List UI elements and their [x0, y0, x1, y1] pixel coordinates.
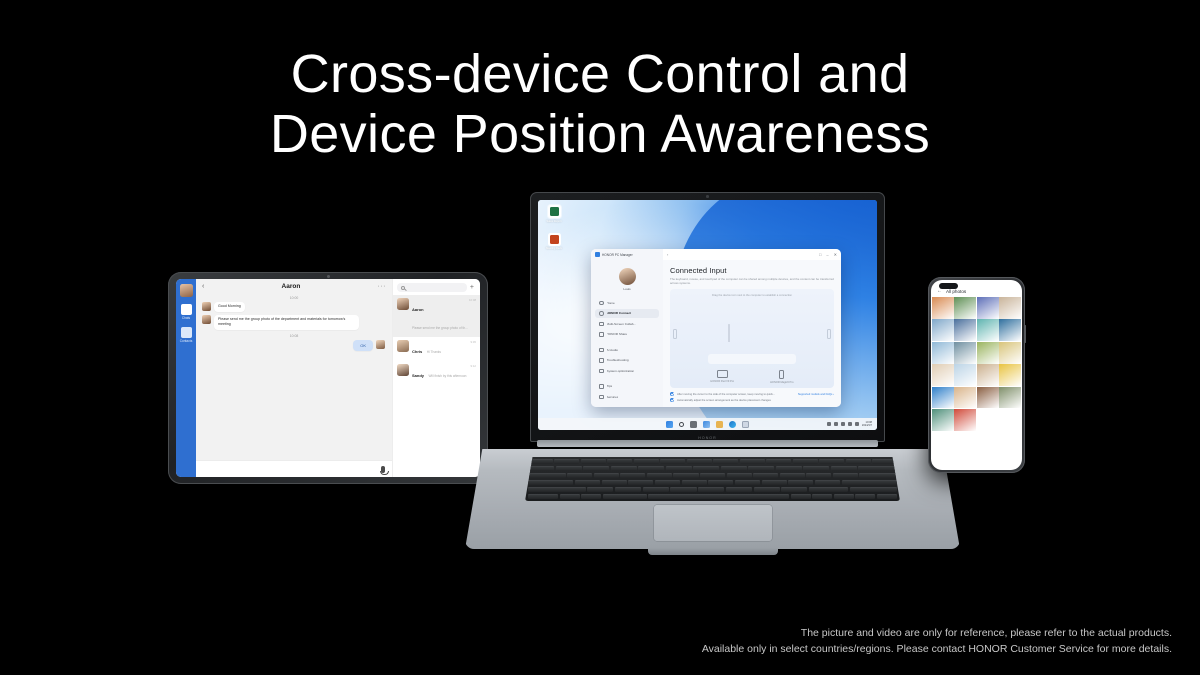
photo-thumbnail[interactable]: [954, 297, 976, 319]
tablet-device: Chats Contacts ‹ Aaron ··· 10:00 Good Mo…: [168, 272, 488, 484]
avatar: [397, 364, 409, 376]
sidebar-item-label: AI Audio: [607, 348, 619, 352]
task-view-icon[interactable]: [690, 421, 697, 428]
multiscreen-icon: [599, 322, 604, 327]
sidebar-item-troubleshooting[interactable]: Troubleshooting: [595, 356, 659, 366]
phone-notch-icon: [939, 283, 958, 289]
laptop-base: [465, 437, 960, 557]
option-label: After moving the cursor to the side of t…: [677, 393, 795, 396]
settings-icon[interactable]: [834, 422, 838, 426]
services-icon: [599, 395, 604, 400]
audio-icon: [599, 348, 604, 353]
system-tray: 10:08 2024/3/7: [827, 421, 872, 427]
photo-grid: [931, 297, 1022, 470]
slide-root: Cross-device Control and Device Position…: [0, 0, 1200, 675]
sidebar-item-label: Troubleshooting: [607, 358, 629, 362]
content-title: Connected Input: [670, 266, 834, 275]
device-chip-phone[interactable]: HONOR Magic6 Pro: [770, 370, 794, 384]
chat-name: Aaron: [412, 307, 424, 312]
laptop-illustration-icon: [728, 325, 776, 343]
phone-icon: [779, 370, 784, 379]
sidebar-item-multi-screen-collab[interactable]: Multi-Screen Collab...: [595, 319, 659, 329]
laptop-lid: Sales Report Meeting Deck HONOR PC Manag…: [530, 192, 885, 442]
desktop-icon-item[interactable]: Meeting Deck: [542, 233, 566, 251]
message-row: Please send me the group photo of the de…: [196, 315, 392, 333]
message-row: OK: [196, 340, 392, 354]
window-title: HONOR PC Manager: [602, 253, 633, 257]
sidebar-item-honor-connect[interactable]: HONOR Connect: [595, 309, 659, 319]
sidebar-item-label: HONOR Connect: [607, 311, 632, 315]
sidebar-item-label: Tips: [607, 384, 613, 388]
back-icon[interactable]: ‹: [667, 252, 668, 257]
sidebar-item-label: Services: [607, 395, 619, 399]
conversation-pane: ‹ Aaron ··· 10:00 Good Morning Please se…: [196, 279, 392, 477]
avatar: [202, 302, 211, 311]
more-options-icon[interactable]: ···: [378, 283, 387, 290]
laptop-trackpad[interactable]: [654, 505, 772, 541]
taskbar-clock[interactable]: 10:08 2024/3/7: [862, 421, 872, 427]
connection-card: Drag the device icon next to the compute…: [670, 289, 834, 388]
windows-taskbar: 10:08 2024/3/7: [538, 418, 877, 430]
search-input[interactable]: [397, 283, 467, 292]
laptop-device: Sales Report Meeting Deck HONOR PC Manag…: [465, 192, 960, 557]
search-icon: [401, 286, 405, 290]
tablet-screen: Chats Contacts ‹ Aaron ··· 10:00 Good Mo…: [176, 279, 480, 477]
tips-icon: [599, 384, 604, 389]
photo-thumbnail[interactable]: [954, 364, 976, 386]
photo-thumbnail[interactable]: [932, 387, 954, 409]
sidebar-item-label: Home: [607, 301, 615, 305]
chat-icon: [181, 304, 192, 315]
share-icon: [599, 332, 604, 337]
message-input-bar[interactable]: [196, 460, 392, 477]
legal-disclaimer: The picture and video are only for refer…: [702, 625, 1172, 657]
chat-preview: Will finish by this afternoon: [428, 374, 466, 378]
chat-preview: Please send me the group photo of th...: [412, 326, 468, 330]
laptop-camera-icon: [706, 195, 709, 198]
avatar: [202, 315, 211, 324]
message-bubble: Please send me the group photo of the de…: [214, 315, 359, 330]
photo-thumbnail[interactable]: [999, 364, 1021, 386]
tablet-camera-icon: [327, 275, 330, 278]
sidebar-item-tips[interactable]: Tips: [595, 382, 659, 392]
file-explorer-icon[interactable]: [716, 421, 723, 428]
photo-thumbnail[interactable]: [954, 342, 976, 364]
pc-manager-content: Connected Input The keyboard, mouse, and…: [663, 260, 841, 407]
back-icon[interactable]: ‹: [202, 283, 204, 290]
disclaimer-line-1: The picture and video are only for refer…: [702, 625, 1172, 641]
laptop-foot: [648, 548, 778, 555]
close-button[interactable]: ✕: [834, 252, 837, 257]
window-titlebar: HONOR PC Manager ‹ □ – ✕: [591, 249, 841, 260]
pc-manager-icon[interactable]: [742, 421, 749, 428]
search-icon[interactable]: [679, 422, 684, 427]
user-name: Louis: [623, 287, 630, 291]
tablet-icon: [717, 370, 728, 378]
content-subtitle: The keyboard, mouse, and touchpad of the…: [670, 277, 834, 285]
message-row: Good Morning: [196, 302, 392, 315]
photo-thumbnail[interactable]: [999, 297, 1021, 319]
contacts-icon: [181, 327, 192, 338]
avatar: [397, 340, 409, 352]
photo-thumbnail[interactable]: [977, 319, 999, 341]
device-chip-tablet[interactable]: HONOR Pad V9 Pro: [710, 370, 734, 384]
sidebar-item-honor-share[interactable]: HONOR Share: [595, 330, 659, 340]
laptop-screen: Sales Report Meeting Deck HONOR PC Manag…: [538, 200, 877, 430]
desktop-icon-label: Meeting Deck: [546, 247, 562, 250]
photo-thumbnail[interactable]: [954, 387, 976, 409]
photo-thumbnail[interactable]: [999, 319, 1021, 341]
desktop-icons: Sales Report Meeting Deck: [542, 205, 566, 251]
sidebar-item-label: Multi-Screen Collab...: [607, 322, 637, 326]
right-device-slot[interactable]: [827, 329, 831, 339]
wifi-icon[interactable]: [841, 422, 845, 426]
sidebar-item-contacts[interactable]: Contacts: [180, 327, 193, 343]
excel-file-icon: [548, 205, 561, 218]
photo-thumbnail[interactable]: [977, 342, 999, 364]
photo-thumbnail[interactable]: [977, 387, 999, 409]
connect-icon: [599, 311, 604, 316]
optimize-icon: [599, 369, 604, 374]
avatar: [376, 340, 385, 349]
edge-icon[interactable]: [729, 421, 736, 428]
photo-thumbnail[interactable]: [999, 342, 1021, 364]
photo-thumbnail[interactable]: [954, 409, 976, 431]
title-line-2: Device Position Awareness: [0, 104, 1200, 164]
message-timestamp: 10:08: [196, 334, 392, 338]
disclaimer-line-2: Available only in select countries/regio…: [702, 641, 1172, 657]
sidebar-item-system-optimization[interactable]: System optimization: [595, 366, 659, 376]
illustration-plate: [708, 354, 796, 364]
minimize-button[interactable]: –: [826, 252, 828, 257]
avatar: [619, 268, 636, 285]
desktop-icon-item[interactable]: Sales Report: [542, 205, 566, 223]
sidebar-item-label: Chats: [182, 316, 190, 320]
desktop-icon-label: Sales Report: [547, 220, 562, 223]
photo-grid-empty-cell: [999, 409, 1021, 431]
pc-manager-window: HONOR PC Manager ‹ □ – ✕: [591, 249, 841, 407]
sidebar-nav: Home HONOR Connect Multi-Screen Collab..…: [595, 298, 659, 402]
page-title: Cross-device Control and Device Position…: [0, 44, 1200, 164]
device-illustration: [670, 297, 834, 370]
sidebar-item-label: HONOR Share: [607, 332, 628, 336]
widgets-icon[interactable]: [703, 421, 710, 428]
phone-screen: ← All photos: [931, 280, 1022, 470]
home-icon: [599, 301, 604, 306]
start-icon[interactable]: [666, 421, 673, 428]
device-name: HONOR Pad V9 Pro: [710, 380, 734, 383]
photo-thumbnail[interactable]: [932, 364, 954, 386]
phone-power-button[interactable]: [1025, 325, 1027, 343]
photo-thumbnail[interactable]: [932, 319, 954, 341]
avatar[interactable]: [180, 284, 193, 297]
photo-thumbnail[interactable]: [932, 342, 954, 364]
chat-name: Sandy: [412, 373, 424, 378]
sidebar-item-label: Contacts: [180, 339, 193, 343]
device-name: HONOR Magic6 Pro: [770, 381, 794, 384]
left-device-slot[interactable]: [673, 329, 677, 339]
volume-icon[interactable]: [848, 422, 852, 426]
laptop-keyboard[interactable]: [525, 457, 900, 501]
photo-thumbnail[interactable]: [999, 387, 1021, 409]
message-bubble: OK: [353, 340, 373, 351]
user-profile[interactable]: Louis: [595, 264, 659, 298]
sidebar-item-home[interactable]: Home: [595, 298, 659, 308]
mic-icon[interactable]: [381, 466, 385, 473]
option-label: Automatically adjust the screen arrangem…: [677, 399, 834, 402]
chat-name: Chris: [412, 349, 422, 354]
troubleshoot-icon: [599, 358, 604, 363]
sidebar-item-chats[interactable]: Chats: [181, 304, 192, 320]
tablet-app-rail: Chats Contacts: [176, 279, 196, 477]
chat-preview: Hi Thanks: [427, 350, 441, 354]
message-bubble: Good Morning: [214, 302, 245, 312]
option-row[interactable]: Automatically adjust the screen arrangem…: [670, 397, 834, 403]
options-list: After moving the cursor to the side of t…: [670, 388, 834, 403]
checkbox-checked-icon[interactable]: [670, 392, 674, 396]
sidebar-item-label: System optimization: [607, 369, 635, 373]
avatar: [397, 298, 409, 310]
battery-icon[interactable]: [855, 422, 859, 426]
app-logo-icon: [595, 252, 600, 257]
checkbox-checked-icon[interactable]: [670, 398, 674, 402]
chevron-up-icon[interactable]: [827, 422, 831, 426]
conversation-spacer: [196, 354, 392, 460]
clock-date: 2024/3/7: [862, 424, 872, 427]
device-chips: HONOR Pad V9 Pro HONOR Magic6 Pro: [710, 370, 793, 388]
photo-thumbnail[interactable]: [932, 297, 954, 319]
photo-thumbnail[interactable]: [977, 297, 999, 319]
message-timestamp: 10:00: [196, 296, 392, 300]
conversation-title: Aaron: [282, 283, 301, 290]
menu-icon[interactable]: □: [819, 252, 821, 257]
conversation-header: ‹ Aaron ···: [196, 279, 392, 294]
photo-thumbnail[interactable]: [977, 364, 999, 386]
powerpoint-file-icon: [548, 233, 561, 246]
gallery-title: All photos: [946, 289, 966, 294]
photo-grid-empty-cell: [977, 409, 999, 431]
title-line-1: Cross-device Control and: [291, 44, 910, 104]
pc-manager-sidebar: Louis Home HONOR Connect: [591, 260, 663, 407]
sidebar-item-ai-audio[interactable]: AI Audio: [595, 345, 659, 355]
phone-device: ← All photos: [928, 277, 1025, 473]
photo-thumbnail[interactable]: [932, 409, 954, 431]
photo-thumbnail[interactable]: [954, 319, 976, 341]
sidebar-item-services[interactable]: Services: [595, 392, 659, 402]
help-link[interactable]: Supported models and FAQs ›: [798, 393, 834, 396]
